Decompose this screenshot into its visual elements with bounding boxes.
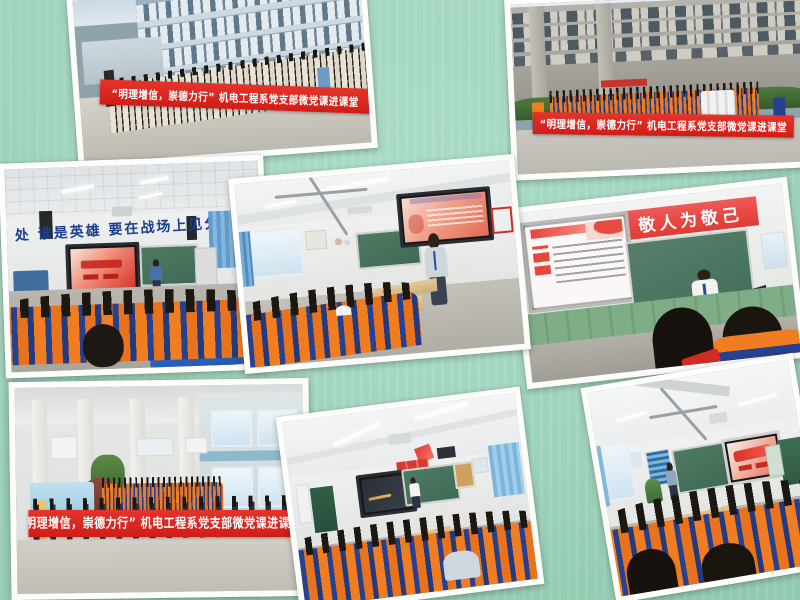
photo-2-image: “明理增信，崇德力行” 机电工程系党支部微党课进课堂	[510, 0, 800, 174]
photo-collage: “明理增信，崇德力行” 机电工程系党支部微党课进课堂	[0, 0, 800, 600]
photo-classroom-slide-closeup[interactable]: 敬人为敬己	[507, 177, 800, 390]
photo-5-image: 敬人为敬己	[513, 183, 800, 382]
photo-2-banner: “明理增信，崇德力行” 机电工程系党支部微党课进课堂	[533, 112, 794, 138]
photo-group-courtyard-banner[interactable]: “明理增信，崇德力行” 机电工程系党支部微党课进课堂	[8, 378, 311, 600]
photo-6-image: “明理增信，崇德力行” 机电工程系党支部微党课进课堂	[15, 384, 306, 594]
photo-3-image: 处 谁是英雄 要在战场上见分晓	[5, 161, 265, 373]
photo-1-image: “明理增信，崇德力行” 机电工程系党支部微党课进课堂	[72, 0, 371, 163]
photo-8-image	[587, 360, 800, 597]
photo-6-banner: “明理增信，崇德力行” 机电工程系党支部微党课进课堂	[28, 510, 290, 537]
photo-group-white-uniform-courtyard[interactable]: “明理增信，崇德力行” 机电工程系党支部微党课进课堂	[66, 0, 378, 170]
photo-6-banner-text: “明理增信，崇德力行” 机电工程系党支部微党课进课堂	[28, 514, 290, 533]
photo-2-banner-text: “明理增信，崇德力行” 机电工程系党支部微党课进课堂	[540, 114, 788, 134]
photo-4-image	[235, 160, 525, 367]
photo-classroom-wide-rear-view[interactable]	[275, 386, 544, 600]
photo-classroom-lecture-speaker[interactable]	[228, 154, 531, 374]
photo-group-orange-uniform-steps[interactable]: “明理增信，崇德力行” 机电工程系党支部微党课进课堂	[504, 0, 800, 181]
photo-5-projection-screen	[520, 211, 638, 314]
photo-7-image	[282, 393, 538, 600]
photo-classroom-students-watching-screen[interactable]	[580, 353, 800, 600]
photo-1-banner-text: “明理增信，崇德力行” 机电工程系党支部微党课进课堂	[111, 84, 359, 109]
